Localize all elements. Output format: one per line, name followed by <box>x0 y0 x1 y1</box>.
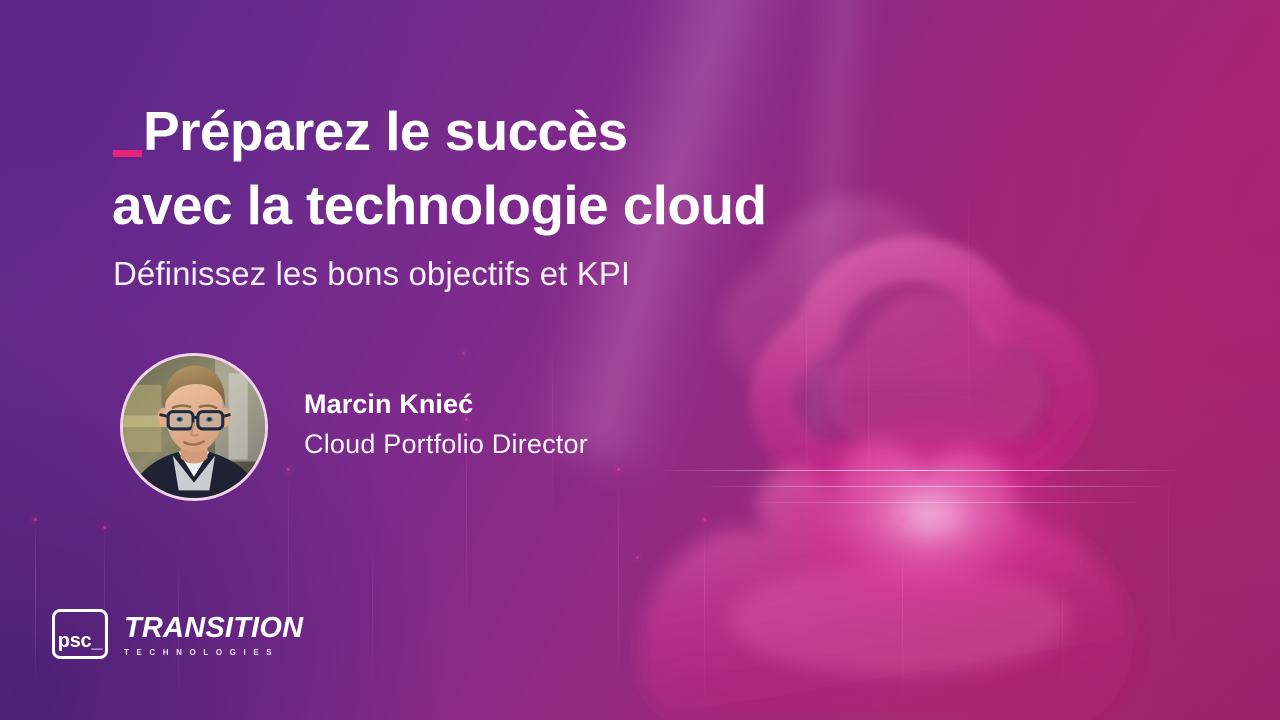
title-block: Préparez le succès avec la technologie c… <box>112 94 992 243</box>
logo-wordmark-sub: TECHNOLOGIES <box>124 649 303 657</box>
psc-logo-mark: psc_ <box>52 609 108 659</box>
speaker-block: Marcin Knieć Cloud Portfolio Director <box>120 353 588 501</box>
logo-wordmark-main: TRANSITION <box>124 614 303 643</box>
company-logo: psc_ TRANSITION TECHNOLOGIES <box>52 609 303 659</box>
title-line-1: Préparez le succès <box>112 94 992 168</box>
logo-wordmark: TRANSITION TECHNOLOGIES <box>124 612 303 657</box>
avatar <box>120 353 268 501</box>
speaker-name: Marcin Knieć <box>304 389 588 421</box>
psc-logo-text: psc_ <box>58 631 102 656</box>
title-line-2: avec la technologie cloud <box>112 168 992 242</box>
underscore-accent-icon <box>113 150 142 157</box>
presentation-slide: Préparez le succès avec la technologie c… <box>0 0 1280 720</box>
page-subtitle: Définissez les bons objectifs et KPI <box>113 255 630 293</box>
page-title: Préparez le succès avec la technologie c… <box>112 94 992 243</box>
speaker-role: Cloud Portfolio Director <box>304 429 588 461</box>
